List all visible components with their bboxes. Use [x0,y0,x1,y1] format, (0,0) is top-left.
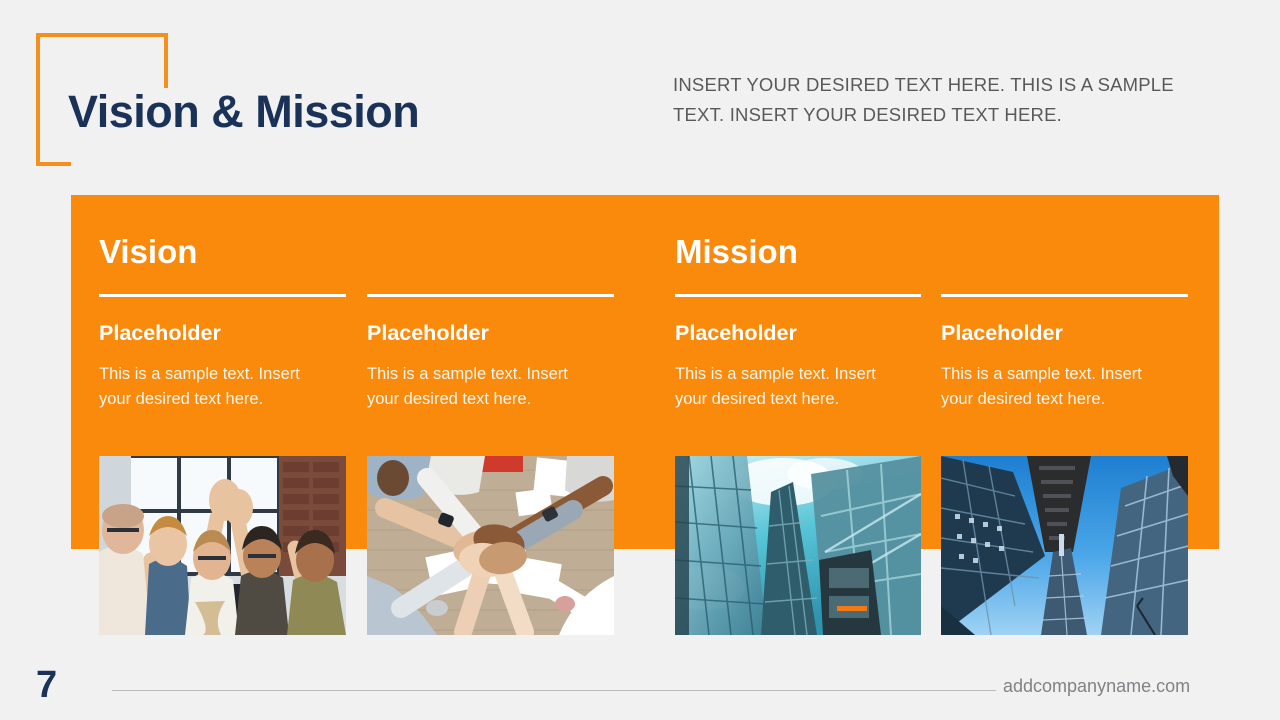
bracket-corner-segment-icon [164,33,168,88]
column-body: This is a sample text. Insert your desir… [367,362,595,412]
bracket-top-segment-icon [36,33,168,37]
column-image-skyscrapers-blue-sky [941,456,1188,635]
column-divider-rule [367,294,614,297]
column-divider-rule [675,294,921,297]
column-body: This is a sample text. Insert your desir… [941,362,1169,412]
page-number: 7 [36,666,57,704]
header-note: Insert your desired text here. This is a… [673,70,1213,130]
column-title: Placeholder [941,322,1188,346]
column-divider-rule [941,294,1188,297]
slide-canvas: Vision & Mission Insert your desired tex… [0,0,1280,720]
content-column: Placeholder This is a sample text. Inser… [99,322,346,412]
column-title: Placeholder [675,322,922,346]
content-column: Placeholder This is a sample text. Inser… [941,322,1188,412]
content-column: Placeholder This is a sample text. Inser… [675,322,922,412]
column-image-team-high-five [99,456,346,635]
footer-website: addcompanyname.com [1003,676,1190,697]
column-divider-rule [99,294,346,297]
footer-divider [112,690,996,691]
page-title: Vision & Mission [68,88,419,135]
column-image-glass-skyscraper [675,456,921,635]
column-title: Placeholder [99,322,346,346]
column-body: This is a sample text. Insert your desir… [675,362,903,412]
bracket-left-segment-icon [36,33,40,166]
column-image-hands-together [367,456,614,635]
section-heading-mission: Mission [675,235,798,268]
bracket-bottom-segment-icon [36,162,71,166]
content-column: Placeholder This is a sample text. Inser… [367,322,614,412]
section-heading-vision: Vision [99,235,197,268]
column-body: This is a sample text. Insert your desir… [99,362,327,412]
column-title: Placeholder [367,322,614,346]
